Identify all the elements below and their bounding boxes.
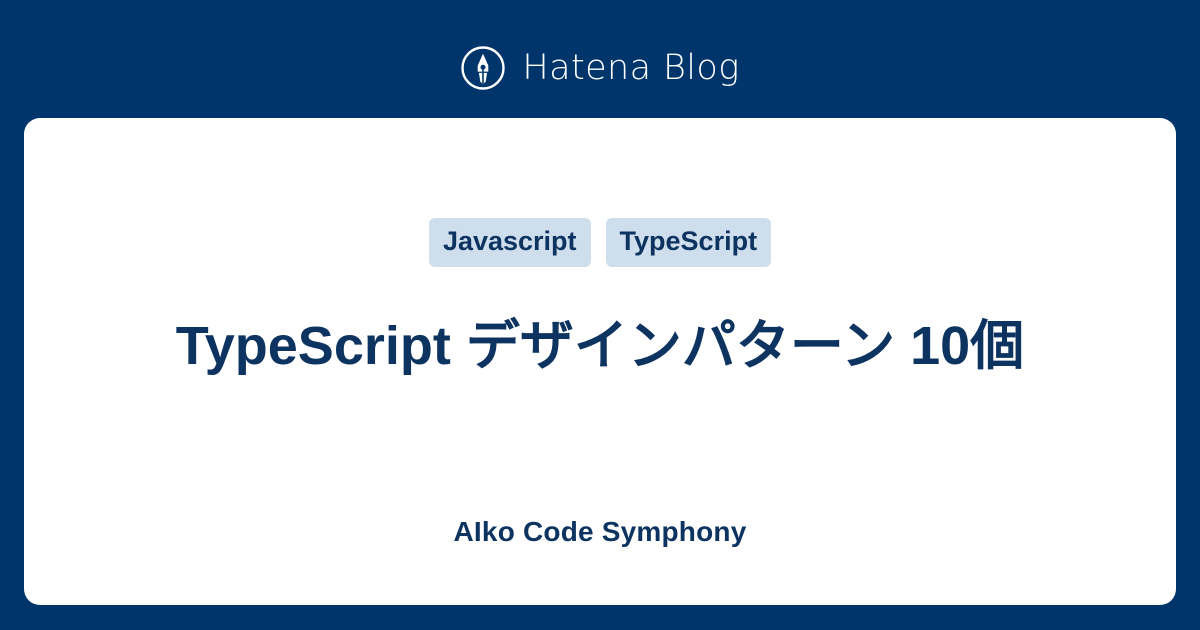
- tag-item[interactable]: Javascript: [429, 218, 591, 267]
- ogp-card: Hatena Blog Javascript TypeScript TypeSc…: [0, 0, 1200, 630]
- tag-list: Javascript TypeScript: [24, 218, 1176, 267]
- brand-header: Hatena Blog: [0, 36, 1200, 100]
- tag-item[interactable]: TypeScript: [606, 218, 772, 267]
- brand-name: Hatena Blog: [522, 51, 739, 86]
- entry-panel: Javascript TypeScript TypeScript デザインパター…: [24, 118, 1176, 605]
- hatena-pen-nib-icon: [460, 45, 506, 91]
- blog-name: AIko Code Symphony: [84, 514, 1116, 550]
- entry-title: TypeScript デザインパターン 10個: [84, 314, 1116, 380]
